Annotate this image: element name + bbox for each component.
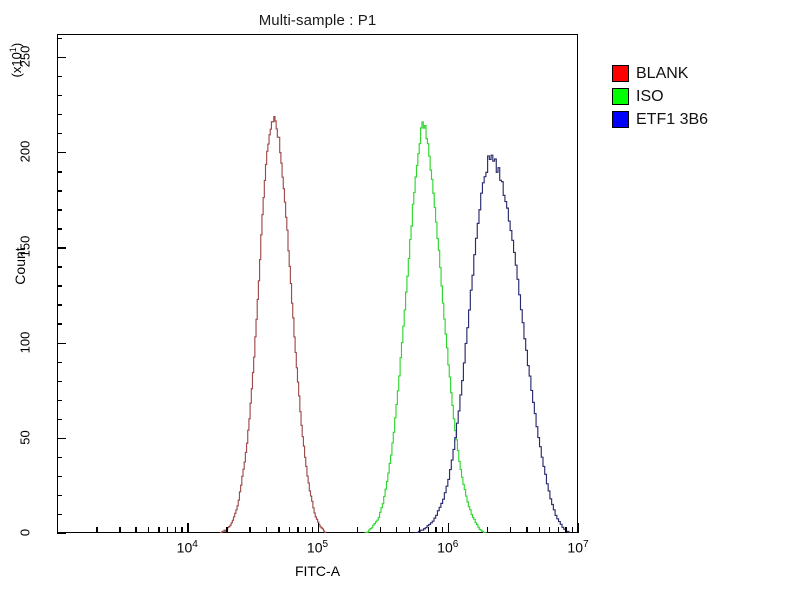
y-tick-minor [57, 38, 62, 39]
y-tick-minor [57, 476, 62, 477]
x-tick-minor [435, 527, 436, 533]
legend-item[interactable]: BLANK [612, 62, 708, 85]
x-tick-minor [278, 527, 279, 533]
x-tick-minor [419, 527, 420, 533]
y-tick-minor [57, 381, 62, 382]
x-tick-mantissa: 10 [307, 540, 323, 556]
x-tick-minor [565, 527, 566, 533]
x-tick-minor [119, 527, 120, 533]
y-tick-minor [57, 171, 62, 172]
plot-area [57, 34, 578, 533]
x-tick-minor [305, 527, 306, 533]
x-tick-major [318, 523, 319, 533]
x-tick-minor [135, 527, 136, 533]
legend-swatch-icon [612, 111, 629, 128]
x-tick-minor [96, 527, 97, 533]
y-tick-minor [57, 114, 62, 115]
y-tick-label: 0 [18, 513, 33, 553]
x-tick-minor [312, 527, 313, 533]
x-tick-label: 107 [556, 539, 600, 556]
x-tick-minor [357, 527, 358, 533]
x-tick-minor [487, 527, 488, 533]
legend-item[interactable]: ETF1 3B6 [612, 108, 708, 131]
y-tick-minor [57, 514, 62, 515]
x-tick-minor [428, 527, 429, 533]
x-tick-label: 106 [426, 539, 470, 556]
x-tick-minor [266, 527, 267, 533]
flow-cytometry-histogram: Multi-sample : P1 0501001502002501041051… [0, 0, 800, 600]
x-tick-minor [572, 527, 573, 533]
x-tick-mantissa: 10 [177, 540, 193, 556]
x-tick-minor [158, 527, 159, 533]
x-tick-minor [409, 527, 410, 533]
y-tick-major [57, 343, 66, 344]
x-tick-major [187, 523, 188, 533]
y-tick-minor [57, 495, 62, 496]
y-tick-minor [57, 304, 62, 305]
x-tick-label: 104 [165, 539, 209, 556]
legend-swatch-icon [612, 65, 629, 82]
x-tick-minor [181, 527, 182, 533]
x-tick-minor [442, 527, 443, 533]
y-tick-major [57, 152, 66, 153]
y-tick-major [57, 57, 66, 58]
x-tick-minor [510, 527, 511, 533]
y-tick-minor [57, 209, 62, 210]
y-tick-minor [57, 76, 62, 77]
legend-label: ETF1 3B6 [636, 112, 708, 128]
x-tick-minor [226, 527, 227, 533]
y-tick-major [57, 533, 66, 534]
x-tick-major [578, 523, 579, 533]
x-tick-minor [558, 527, 559, 533]
y-tick-minor [57, 95, 62, 96]
chart-title: Multi-sample : P1 [57, 12, 578, 29]
y-tick-minor [57, 228, 62, 229]
y-tick-major [57, 247, 66, 248]
x-tick-exponent: 7 [583, 539, 589, 550]
x-tick-minor [380, 527, 381, 533]
y-tick-minor [57, 323, 62, 324]
x-tick-minor [249, 527, 250, 533]
x-tick-minor [549, 527, 550, 533]
x-tick-mantissa: 10 [567, 540, 583, 556]
x-tick-minor [539, 527, 540, 533]
x-tick-mantissa: 10 [437, 540, 453, 556]
legend-label: BLANK [636, 66, 688, 82]
legend-label: ISO [636, 89, 664, 105]
x-tick-major [448, 523, 449, 533]
y-tick-minor [57, 266, 62, 267]
x-tick-minor [526, 527, 527, 533]
y-tick-label: 200 [18, 132, 33, 172]
x-tick-minor [167, 527, 168, 533]
legend: BLANKISOETF1 3B6 [612, 62, 708, 131]
y-tick-minor [57, 457, 62, 458]
x-tick-label: 105 [296, 539, 340, 556]
x-tick-minor [175, 527, 176, 533]
y-tick-minor [57, 400, 62, 401]
x-tick-exponent: 6 [453, 539, 459, 550]
x-tick-exponent: 5 [323, 539, 329, 550]
x-tick-major [57, 523, 58, 533]
legend-swatch-icon [612, 88, 629, 105]
y-tick-minor [57, 285, 62, 286]
y-tick-label: 50 [18, 417, 33, 457]
x-tick-minor [148, 527, 149, 533]
x-axis-title: FITC-A [57, 563, 578, 579]
y-tick-minor [57, 419, 62, 420]
x-tick-minor [396, 527, 397, 533]
y-tick-label: 100 [18, 322, 33, 362]
x-tick-exponent: 4 [192, 539, 198, 550]
y-tick-minor [57, 190, 62, 191]
y-tick-minor [57, 362, 62, 363]
y-axis-multiplier: (x101) [8, 30, 24, 90]
x-tick-minor [289, 527, 290, 533]
x-tick-minor [297, 527, 298, 533]
y-tick-minor [57, 133, 62, 134]
legend-item[interactable]: ISO [612, 85, 708, 108]
y-tick-major [57, 438, 66, 439]
y-axis-title: Count [12, 226, 28, 306]
